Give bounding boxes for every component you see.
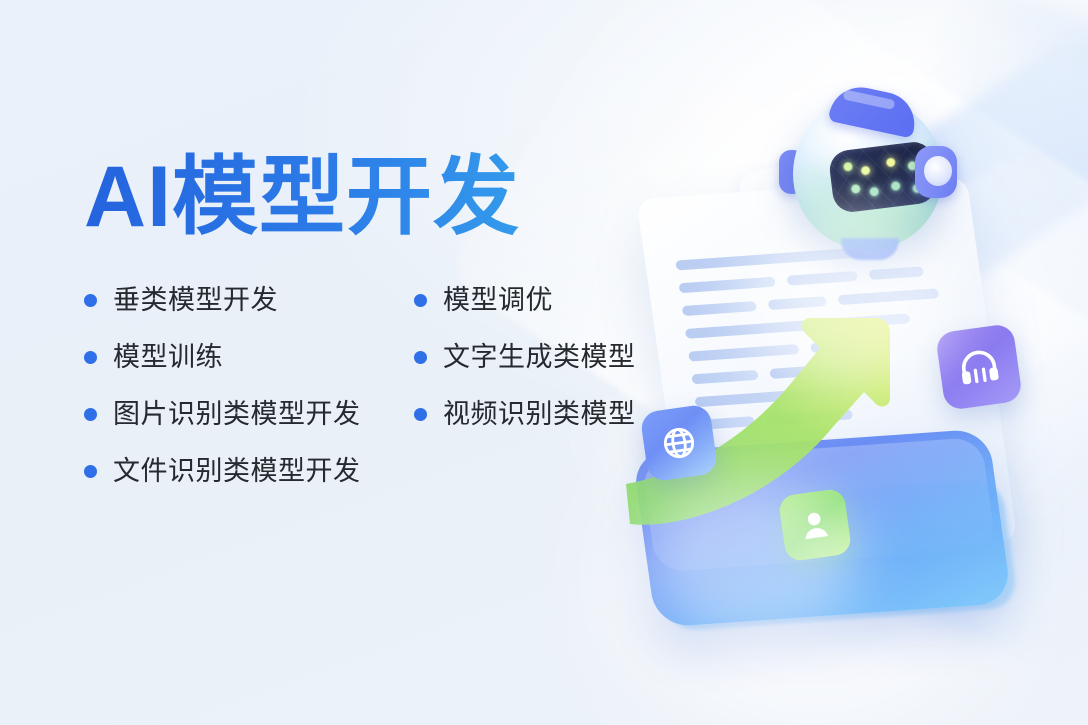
headphones-icon <box>953 341 1005 393</box>
robot-neck <box>841 238 899 260</box>
feature-item-vertical-model-dev[interactable]: 垂类模型开发 <box>84 287 414 314</box>
bullet-icon <box>84 351 97 364</box>
feature-label: 模型调优 <box>443 287 553 314</box>
headphones-badge[interactable] <box>935 323 1023 411</box>
globe-icon <box>656 420 701 465</box>
bullet-icon <box>414 408 427 421</box>
feature-label: 文件识别类模型开发 <box>113 458 361 485</box>
feature-label: 模型训练 <box>113 344 223 371</box>
bullet-icon <box>414 351 427 364</box>
bullet-icon <box>414 294 427 307</box>
bullet-icon <box>84 294 97 307</box>
hero-illustration: AI <box>600 60 1088 680</box>
user-badge[interactable] <box>778 488 853 563</box>
bullet-icon <box>84 408 97 421</box>
feature-list: 垂类模型开发 模型调优 模型训练 文字生成类模型 图片识别类模型开发 视频识别类… <box>84 287 684 485</box>
bullet-icon <box>84 465 97 478</box>
feature-label: 图片识别类模型开发 <box>113 401 361 428</box>
globe-badge[interactable] <box>639 403 718 482</box>
feature-item-image-recognition-model-dev[interactable]: 图片识别类模型开发 <box>84 401 414 428</box>
ai-robot <box>775 88 961 278</box>
feature-label: 垂类模型开发 <box>113 287 278 314</box>
page-title: AI模型开发 <box>84 152 684 243</box>
banner-root: AI模型开发 垂类模型开发 模型调优 模型训练 文字生成类模型 图片识别类模型开… <box>0 0 1088 725</box>
robot-ear-right <box>915 146 957 198</box>
banner-copy: AI模型开发 垂类模型开发 模型调优 模型训练 文字生成类模型 图片识别类模型开… <box>84 152 684 485</box>
feature-item-model-training[interactable]: 模型训练 <box>84 344 414 371</box>
feature-item-file-recognition-model-dev[interactable]: 文件识别类模型开发 <box>84 458 414 485</box>
user-icon <box>795 505 836 546</box>
